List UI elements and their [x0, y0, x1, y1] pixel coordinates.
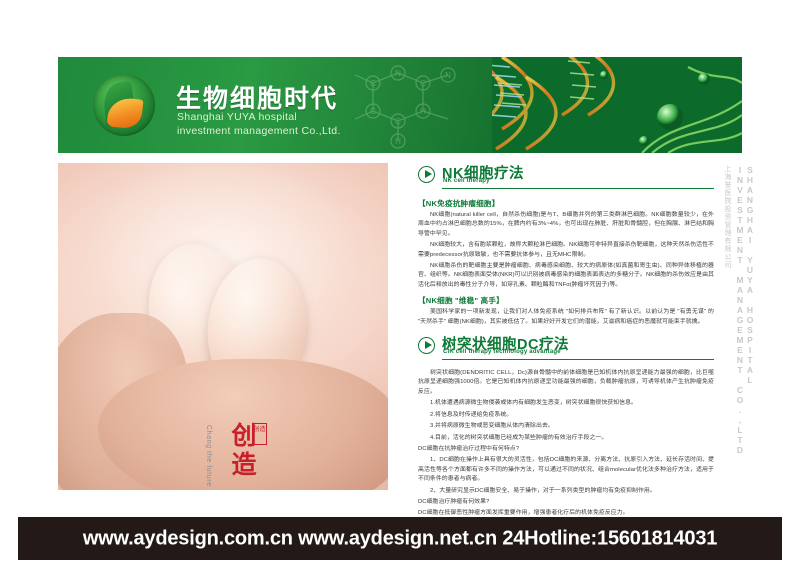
- svg-text:H: H: [420, 107, 426, 116]
- svg-text:C: C: [395, 117, 401, 126]
- subheading: 【NK免疫抗肿瘤细胞】: [418, 198, 714, 209]
- svg-text:H: H: [395, 137, 401, 146]
- paragraph: DC细胞在抗肿瘤治疗过程中有何特点?: [418, 445, 714, 454]
- article-content: NK细胞疗法 NK cell therapy 【NK免疫抗肿瘤细胞】 NK细胞(…: [418, 163, 714, 490]
- paragraph: 2.将信息及时传递给免疫系统。: [418, 411, 714, 420]
- paragraph: NK细胞较大，含有胞浆颗粒，故称大颗粒淋巴细胞。NK细胞可非特异直接杀伤靶细胞，…: [418, 241, 714, 260]
- paragraph: NK细胞(natural killer cell，自然杀伤细胞)是与T、B细胞并…: [418, 211, 714, 239]
- company-name-cn: 上海誉医院投资管理有限公司: [722, 165, 732, 315]
- paragraph: 树突状细胞(DENDRITIC CELL，Dc)源自骨髓中的前体细胞是已知机体内…: [418, 369, 714, 397]
- header-banner: N C N H C C C H: [58, 57, 742, 153]
- paragraph: NK细胞杀伤的靶细胞主要是肿瘤细胞、病毒感染细胞、较大的病原体(如真菌和寄生虫)…: [418, 262, 714, 290]
- svg-text:C: C: [420, 79, 426, 88]
- logo-icon: [93, 74, 155, 136]
- subheading: 【NK细胞 "维稳" 高手】: [418, 295, 714, 306]
- sidebar-vertical-text: 上海誉医院投资管理有限公司 SHANGHAI YUYA HOSPITAL INV…: [722, 165, 748, 490]
- paragraph: DC细胞治疗肿瘤有何效果?: [418, 498, 714, 507]
- svg-text:C: C: [370, 107, 376, 116]
- company-name-en: SHANGHAI YUYA HOSPITAL INVESTMENT MANAGE…: [735, 165, 755, 485]
- svg-text:C: C: [370, 79, 376, 88]
- molecule-graphic: N C N H C C C H: [343, 63, 483, 149]
- section-divider: [442, 188, 714, 189]
- paragraph: 美国科学家的一项新发现，让我们对人体免疫系统 "如何排兵布阵" 有了新认识。以前…: [418, 308, 714, 327]
- section-title-en: NK cell therapy: [443, 178, 490, 184]
- footer-bar: www.aydesign.com.cn www.aydesign.net.cn …: [18, 517, 782, 560]
- paragraph: 1、DC细胞在操作上具有很大的灵活性，包括DC细胞的来源、分离方法、抗原引入方法…: [418, 456, 714, 484]
- brand-name-cn: 生物细胞时代: [176, 79, 338, 115]
- play-circle-icon: [418, 337, 435, 354]
- section-header-nk: NK细胞疗法 NK cell therapy: [418, 163, 714, 193]
- brochure-page: N C N H C C C H: [0, 0, 800, 562]
- paragraph: 4.目前，活化的树突状细胞已经成为某些肿瘤的有效治疗手段之一。: [418, 434, 714, 443]
- svg-text:N: N: [445, 71, 451, 80]
- play-circle-icon: [418, 166, 435, 183]
- section-title-en: CIK cell therapy technology advantage: [443, 349, 561, 355]
- brand-name-en-line1: Shanghai YUYA hospital: [177, 111, 297, 123]
- seal-stamp-icon: 创造: [252, 423, 267, 445]
- section-header-dc: 树突状细胞DC疗法 CIK cell therapy technology ad…: [418, 334, 714, 364]
- svg-text:N: N: [395, 69, 401, 78]
- footer: www.aydesign.com.cn www.aydesign.net.cn …: [0, 515, 800, 562]
- calligraphy-subtitle: Chang the future: [205, 425, 212, 487]
- dna-graphic: [492, 57, 742, 153]
- paragraph: 2、大量研究显示DC细胞安全、易于操作，对于一系列类型的肿瘤均有免疫抑制作用。: [418, 487, 714, 496]
- section-divider: [442, 359, 714, 360]
- footer-contact-text: www.aydesign.com.cn www.aydesign.net.cn …: [83, 527, 717, 550]
- brand-name-en-line2: investment management Co.,Ltd.: [177, 125, 341, 137]
- paragraph: 1.机体遭遇病源微生物侵袭或体内有细胞发生恶变，树突状细胞很快获知信息。: [418, 399, 714, 408]
- paragraph: 3.并将病原微生物或恶变细胞从体内清除出去。: [418, 422, 714, 431]
